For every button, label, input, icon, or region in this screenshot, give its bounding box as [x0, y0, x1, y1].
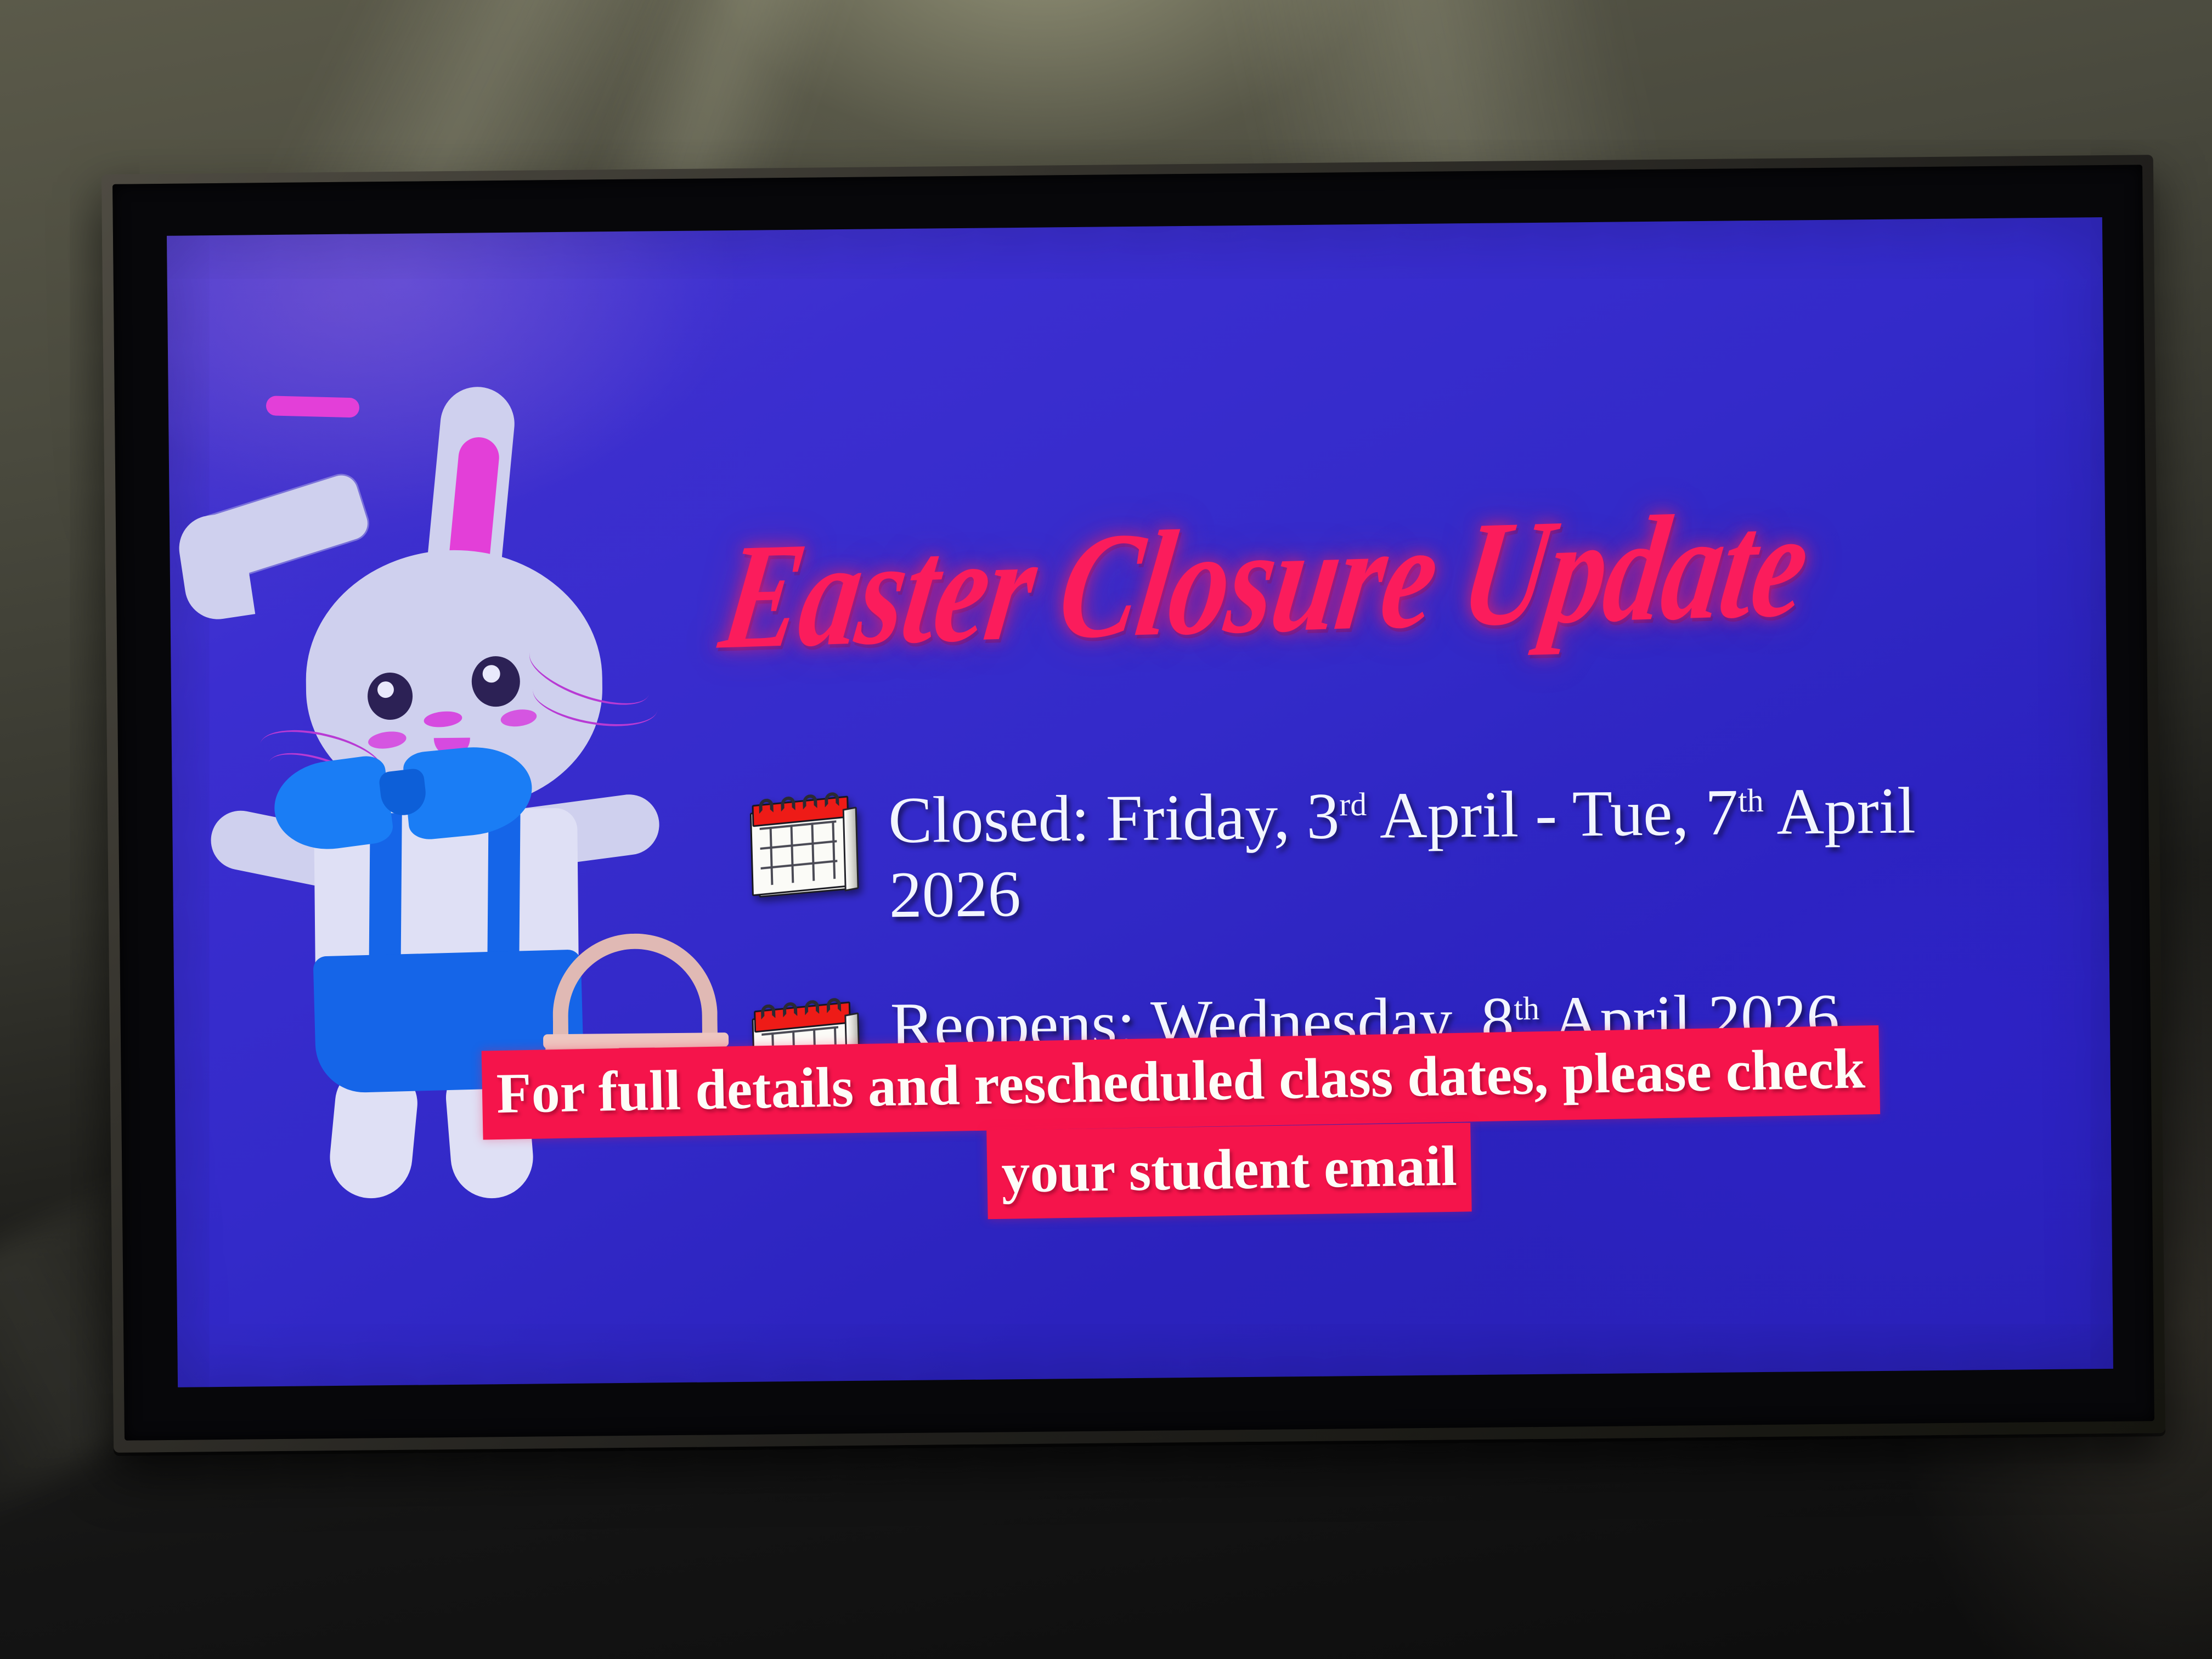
- wall-mounted-display: Easter Closure Update: [101, 155, 2165, 1453]
- ordinal-suffix: th: [1738, 782, 1764, 819]
- bunny-right-eye: [471, 656, 520, 707]
- bullet-text-closed: Closed: Friday, 3rd April - Tue, 7th Apr…: [888, 772, 2020, 932]
- bunny-left-eye-highlight: [377, 681, 394, 698]
- slide-title: Easter Closure Update: [713, 481, 2056, 672]
- bullet-text-part: April - Tue, 7: [1367, 775, 1739, 851]
- bunny-left-ear-inner: [266, 396, 360, 417]
- bunny-right-eye-highlight: [483, 665, 500, 682]
- display-bezel: Easter Closure Update: [112, 165, 2154, 1440]
- bullet-item-closed: Closed: Friday, 3rd April - Tue, 7th Apr…: [748, 771, 2083, 933]
- banner-line-1: For full details and rescheduled class d…: [482, 1025, 1881, 1139]
- highlight-banner: For full details and rescheduled class d…: [482, 1030, 1976, 1222]
- banner-line-2: your student email: [986, 1122, 1472, 1218]
- ordinal-suffix: rd: [1339, 786, 1367, 822]
- presentation-slide: Easter Closure Update: [167, 217, 2113, 1387]
- bullet-text-part: Closed: Friday, 3: [888, 779, 1340, 856]
- calendar-icon: [747, 798, 862, 905]
- ordinal-suffix: th: [1514, 990, 1539, 1026]
